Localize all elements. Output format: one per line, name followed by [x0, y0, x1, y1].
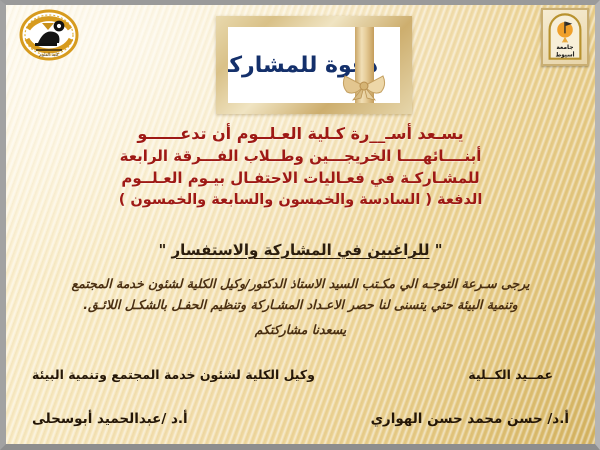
ribbon-bow-icon — [342, 71, 386, 101]
invitation-text-block: يسـعد أسـ__رة كـلية العـلــوم أن تدعــــ… — [6, 123, 595, 211]
invitation-line-1: يسـعد أسـ__رة كـلية العـلــوم أن تدعــــ… — [6, 123, 595, 145]
signature-title-dean: عمــيد الكــلية — [468, 367, 569, 382]
invitation-line-4: الدفعة ( السادسة والخمسون والسابعة والخم… — [6, 189, 595, 211]
svg-text:جامعة: جامعة — [556, 44, 573, 51]
invitation-line-2: أبنــــائهــــا الخريجـــين وطــلاب الفـ… — [6, 145, 595, 167]
instructions-line-1: يرجى سـرعة التوجـه الي مكـتب السيد الاست… — [6, 273, 595, 294]
signature-names-row: أ.د /عبدالحميد أبوسحلى أ.د/ حسن محمد حسن… — [32, 411, 569, 427]
instructions-paragraph: يرجى سـرعة التوجـه الي مكـتب السيد الاست… — [6, 273, 595, 340]
title-card-inner: دعوة للمشاركة — [228, 27, 400, 103]
signature-titles-row: وكيل الكلية لشئون خدمة المجتمع وتنمية ال… — [32, 367, 569, 382]
instructions-line-2: وتنمية البيئة حتي يتسنى لنا حصر الاعـداد… — [6, 294, 595, 315]
inquiry-heading: " للراغبين في المشاركة والاستفسار " — [6, 241, 595, 259]
signature-name-dean: أ.د/ حسن محمد حسن الهواري — [367, 411, 569, 427]
assiut-university-emblem-icon: جامعة أسيوط — [541, 8, 589, 66]
inquiry-heading-text: للراغبين في المشاركة والاستفسار — [172, 241, 430, 259]
invitation-slide: كلية العلوم جامعة أسيوط دعوة لل — [0, 0, 600, 450]
signature-title-vice-dean: وكيل الكلية لشئون خدمة المجتمع وتنمية ال… — [32, 367, 315, 382]
title-card: دعوة للمشاركة — [216, 16, 412, 114]
invitation-line-3: للمشـاركـة في فعـاليات الاحتفـال بيـوم ا… — [6, 167, 595, 189]
instructions-closing: يسعدنا مشاركتكم — [6, 319, 595, 340]
inquiry-open-quote: " — [158, 241, 166, 259]
signature-name-vice-dean: أ.د /عبدالحميد أبوسحلى — [32, 411, 188, 427]
faculty-of-science-seal-icon: كلية العلوم — [18, 9, 80, 61]
inquiry-close-quote: " — [435, 241, 443, 259]
svg-text:كلية العلوم: كلية العلوم — [39, 52, 60, 58]
svg-text:أسيوط: أسيوط — [555, 50, 574, 58]
